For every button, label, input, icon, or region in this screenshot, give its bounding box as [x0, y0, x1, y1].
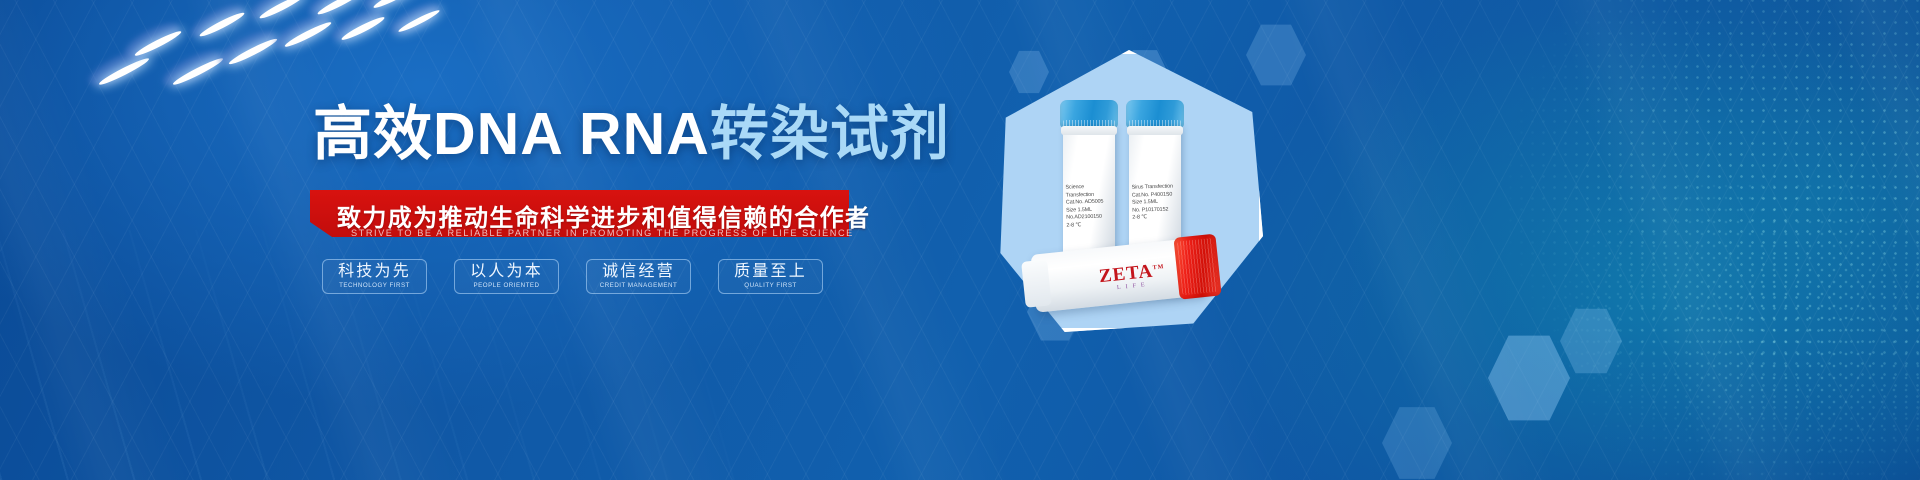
banner-text-column: 高效DNA RNA转染试剂 致力成为推动生命科学进步和值得信赖的合作者 STRI…	[0, 0, 1000, 480]
page-title: 高效DNA RNA转染试剂	[313, 102, 950, 166]
promo-banner: Science Transfection Cat.No. AD5005 Size…	[0, 0, 1920, 480]
feature-pill-label-en: TECHNOLOGY FIRST	[339, 282, 410, 290]
vial-cap-blue-right	[1126, 100, 1184, 128]
vial-cap-blue-left	[1060, 100, 1118, 128]
slogan-subline: STRIVE TO BE A RELIABLE PARTNER IN PROMO…	[351, 228, 854, 238]
halftone-dots-top-right	[1340, 0, 1920, 480]
teal-glow-overlay	[1340, 0, 1920, 480]
hexagon-decor-bottom-right	[1560, 306, 1622, 376]
feature-pill-label-cn: 质量至上	[734, 263, 807, 280]
feature-pill-credit-management[interactable]: 诚信经营 CREDIT MANAGEMENT	[586, 259, 691, 294]
vial-collar-right	[1127, 126, 1183, 135]
vial-collar-left	[1061, 126, 1117, 135]
feature-pill-label-cn: 科技为先	[338, 263, 411, 280]
feature-pill-people-oriented[interactable]: 以人为本 PEOPLE ORIENTED	[454, 259, 559, 294]
feature-pill-label-cn: 以人为本	[470, 263, 543, 280]
vial-cap-red	[1173, 234, 1221, 300]
feature-pill-label-cn: 诚信经营	[602, 263, 675, 280]
product-image: Science Transfection Cat.No. AD5005 Size…	[995, 50, 1263, 332]
feature-pill-label-en: CREDIT MANAGEMENT	[600, 282, 677, 290]
feature-pill-list: 科技为先 TECHNOLOGY FIRST 以人为本 PEOPLE ORIENT…	[322, 259, 823, 294]
feature-pill-quality-first[interactable]: 质量至上 QUALITY FIRST	[718, 259, 823, 294]
title-accent: 转染试剂	[710, 101, 950, 167]
halftone-dots-bottom-right	[1420, 180, 1920, 480]
brand-trademark-icon: TM	[1153, 264, 1165, 271]
vial-horizontal: ZETATM LIFE	[1030, 237, 1205, 312]
hexagon-decor-far-bottom	[1382, 404, 1452, 480]
feature-pill-label-en: PEOPLE ORIENTED	[474, 282, 540, 290]
vial-label-right: Sirus Transfection Cat.No. P4001S0 Size …	[1132, 183, 1179, 222]
vial-label-left: Science Transfection Cat.No. AD5005 Size…	[1065, 183, 1112, 230]
feature-pill-technology-first[interactable]: 科技为先 TECHNOLOGY FIRST	[322, 259, 427, 294]
feature-pill-label-en: QUALITY FIRST	[744, 282, 796, 290]
hexagon-decor-bottom-center	[1488, 332, 1570, 424]
vial-tail-cap	[1021, 259, 1052, 307]
product-brand: ZETATM LIFE	[1086, 257, 1178, 295]
title-primary: 高效DNA RNA	[313, 101, 710, 167]
